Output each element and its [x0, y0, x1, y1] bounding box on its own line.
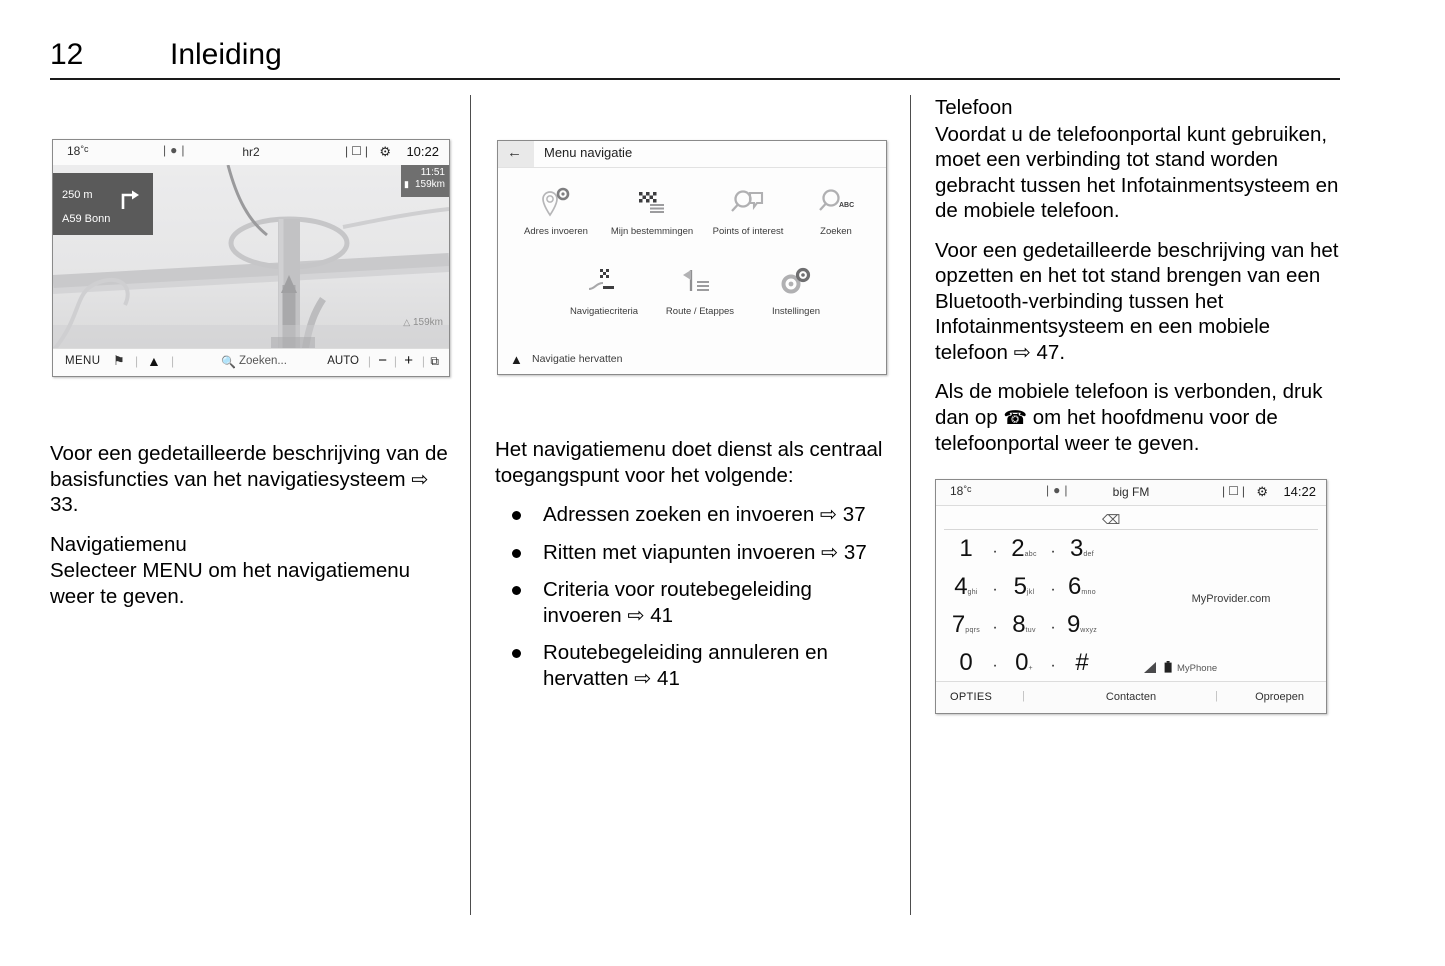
- key-separator: ·: [990, 619, 1000, 637]
- separator: |: [368, 354, 371, 368]
- phone-handset-icon: ☎: [1003, 408, 1027, 429]
- search-label[interactable]: Zoeken...: [239, 355, 287, 367]
- key-5[interactable]: 5jkl: [1002, 575, 1046, 599]
- key-separator: ·: [1048, 657, 1058, 675]
- list-item-text: Criteria voor routebegeleiding invoeren …: [543, 578, 812, 627]
- list-item-text: Adressen zoeken en invoeren ⇨ 37: [543, 503, 866, 526]
- key-0[interactable]: 0+: [1002, 651, 1046, 675]
- magnifier-speech-icon: [700, 181, 796, 223]
- list-item: Criteria voor routebegeleiding invoeren …: [495, 577, 895, 628]
- menu-title: Menu navigatie: [544, 145, 632, 160]
- page-title: Inleiding: [170, 38, 282, 72]
- pin-gear-icon: [508, 181, 604, 223]
- magnifier-abc-icon: ABC: [788, 181, 884, 223]
- message-icon: ▮: [404, 179, 409, 190]
- phone-bottom-bar: OPTIES | Contacten | Oproepen: [936, 681, 1326, 713]
- menu-tile-adres-invoeren[interactable]: Adres invoeren: [508, 181, 604, 237]
- manual-page: 12 Inleiding 18°c |●| hr2 |☐| ⚙ 10:22: [0, 0, 1445, 966]
- separator: |: [171, 354, 174, 368]
- tile-label: Points of interest: [700, 226, 796, 237]
- turn-instruction-card: 250 m A59 Bonn: [53, 173, 153, 235]
- key-separator: ·: [990, 657, 1000, 675]
- separator: |: [135, 354, 138, 368]
- key-7[interactable]: 7pqrs: [944, 613, 988, 637]
- key-separator: ·: [1048, 581, 1058, 599]
- key-separator: ·: [990, 581, 1000, 599]
- middle-paragraph-1: Het navigatiemenu doet dienst als centra…: [495, 437, 895, 488]
- key-separator: ·: [990, 543, 1000, 561]
- search-icon[interactable]: 🔍: [221, 355, 236, 369]
- bullet-dot: [512, 549, 521, 558]
- column-divider-2: [910, 95, 911, 915]
- list-item: Ritten met viapunten invoeren ⇨ 37: [495, 540, 895, 566]
- auto-zoom-button[interactable]: AUTO: [327, 355, 359, 367]
- menu-tile-instellingen[interactable]: Instellingen: [748, 261, 844, 317]
- phone-keypad-screenshot: 18°c |●| big FM |☐| ⚙ 14:22 ⌫ 1 · 2abc: [935, 479, 1327, 714]
- menu-tile-grid: Adres invoeren Mijn bestemmingen Points …: [498, 167, 886, 344]
- key-4[interactable]: 4ghi: [944, 575, 988, 599]
- phone-connection-status: MyPhone: [1132, 661, 1312, 675]
- right-paragraph-3: Als de mobiele telefoon is verbonden, dr…: [935, 379, 1340, 457]
- page-header: 12 Inleiding: [50, 38, 1340, 78]
- eta-panel: 11:51 ▮ 159km: [401, 165, 449, 197]
- menu-tile-route-etappes[interactable]: Route / Etappes: [652, 261, 748, 317]
- menu-tile-navigatiecriteria[interactable]: Navigatiecriteria: [556, 261, 652, 317]
- menu-tile-points-of-interest[interactable]: Points of interest: [700, 181, 796, 237]
- map-status-bar: 18°c |●| hr2 |☐| ⚙ 10:22: [53, 140, 449, 166]
- key-1[interactable]: 1: [944, 537, 988, 561]
- list-item: Routebegeleiding annuleren en hervatten …: [495, 640, 895, 691]
- key-9[interactable]: 9wxyz: [1060, 613, 1104, 637]
- backspace-icon[interactable]: ⌫: [1102, 512, 1120, 528]
- key-separator: ·: [1048, 543, 1058, 561]
- remaining-distance-secondary: △ 159km: [403, 317, 443, 328]
- checkered-flag-list-icon: [604, 181, 700, 223]
- list-item-text: Ritten met viapunten invoeren ⇨ 37: [543, 541, 867, 564]
- key-hash[interactable]: #: [1060, 651, 1104, 675]
- left-heading-navigatiemenu: Navigatiemenu: [50, 532, 450, 558]
- number-input-underline: [944, 529, 1318, 530]
- key-8[interactable]: 8tuv: [1002, 613, 1046, 637]
- menu-tile-zoeken[interactable]: ABC Zoeken: [788, 181, 884, 237]
- right-paragraph-2: Voor een gedetailleerde beschrijving van…: [935, 238, 1340, 366]
- key-3[interactable]: 3def: [1060, 537, 1104, 561]
- flag-list-icon: [652, 261, 748, 303]
- tile-label: Route / Etappes: [652, 306, 748, 317]
- gear-icon[interactable]: ⚙: [379, 144, 391, 160]
- key-separator: ·: [1048, 619, 1058, 637]
- column-middle: ← Menu navigatie Adres invoeren Mijn bes…: [495, 95, 895, 703]
- menu-footer[interactable]: ▲ Navigatie hervatten: [498, 344, 886, 374]
- battery-icon: [1164, 661, 1172, 676]
- expand-icon[interactable]: ⧉: [430, 354, 439, 369]
- flag-icon[interactable]: ⚑: [113, 353, 125, 369]
- tile-label: Instellingen: [748, 306, 844, 317]
- turn-distance: 250 m: [62, 189, 93, 201]
- calls-button[interactable]: Oproepen: [1255, 691, 1304, 703]
- bullet-dot: [512, 586, 521, 595]
- remaining-distance: 159km: [415, 179, 445, 190]
- tile-label: Zoeken: [788, 226, 884, 237]
- keypad-row: 7pqrs · 8tuv · 9wxyz: [944, 613, 1124, 651]
- menu-tile-mijn-bestemmingen[interactable]: Mijn bestemmingen: [604, 181, 700, 237]
- menu-title-bar: ← Menu navigatie: [498, 141, 886, 168]
- checkered-route-icon: [556, 261, 652, 303]
- key-6[interactable]: 6mno: [1060, 575, 1104, 599]
- provider-label: MyProvider.com: [1146, 593, 1316, 605]
- phone-body: ⌫ 1 · 2abc · 3def 4ghi · 5: [936, 505, 1326, 681]
- phone-status-bar: 18°c |●| big FM |☐| ⚙ 14:22: [936, 480, 1326, 506]
- right-heading-telefoon: Telefoon: [935, 95, 1340, 121]
- arrival-time: 11:51: [421, 167, 445, 178]
- phone-keypad: 1 · 2abc · 3def 4ghi · 5jkl · 6mno: [944, 537, 1124, 689]
- message-icon[interactable]: |☐|: [1222, 484, 1248, 498]
- keypad-row: 4ghi · 5jkl · 6mno: [944, 575, 1124, 613]
- back-arrow-icon: ←: [507, 144, 522, 161]
- device-name-label: MyPhone: [1177, 663, 1217, 674]
- signal-bars-icon: [1144, 662, 1157, 676]
- navigation-map-screenshot: 18°c |●| hr2 |☐| ⚙ 10:22: [52, 139, 450, 377]
- turn-right-arrow-icon: [119, 189, 141, 216]
- menu-button[interactable]: MENU: [65, 355, 100, 367]
- gears-icon: [748, 261, 844, 303]
- clock-readout: 10:22: [406, 144, 439, 159]
- tile-label: Mijn bestemmingen: [604, 226, 700, 237]
- list-item: Adressen zoeken en invoeren ⇨ 37: [495, 502, 895, 528]
- right-paragraph-1: Voordat u de telefoonportal kunt gebruik…: [935, 122, 1340, 224]
- keypad-row: 1 · 2abc · 3def: [944, 537, 1124, 575]
- key-star[interactable]: 0: [944, 651, 988, 675]
- message-icon[interactable]: |☐|: [345, 144, 371, 158]
- left-paragraph-1: Voor een gedetailleerde beschrijving van…: [50, 441, 450, 518]
- header-divider: [50, 78, 1340, 80]
- tile-label: Navigatiecriteria: [556, 306, 652, 317]
- middle-bullet-list: Adressen zoeken en invoeren ⇨ 37 Ritten …: [495, 502, 895, 691]
- zoom-in-button[interactable]: +: [404, 352, 413, 369]
- column-divider-1: [470, 95, 471, 915]
- key-2[interactable]: 2abc: [1002, 537, 1046, 561]
- clock-readout: 14:22: [1283, 484, 1316, 499]
- back-button[interactable]: ←: [498, 141, 534, 167]
- bullet-dot: [512, 649, 521, 658]
- map-bottom-bar: MENU ⚑ | ▲ | 🔍 Zoeken... AUTO | − | + | …: [53, 348, 449, 376]
- map-canvas[interactable]: 250 m A59 Bonn 11:51 ▮ 159km △ 159km: [53, 165, 449, 348]
- separator: |: [394, 354, 397, 368]
- phone-screenshot-wrapper: 18°c |●| big FM |☐| ⚙ 14:22 ⌫ 1 · 2abc: [935, 479, 1340, 714]
- north-arrow-icon[interactable]: ▲: [147, 353, 161, 369]
- column-right: Telefoon Voordat u de telefoonportal kun…: [935, 95, 1340, 714]
- left-paragraph-2: Selecteer MENU om het navigatiemenu weer…: [50, 558, 450, 609]
- navigation-triangle-icon: ▲: [510, 352, 523, 367]
- menu-keyword: MENU: [142, 559, 202, 582]
- separator: |: [422, 354, 425, 368]
- navigation-menu-screenshot: ← Menu navigatie Adres invoeren Mijn bes…: [497, 140, 887, 375]
- svg-text:ABC: ABC: [839, 202, 854, 209]
- resume-navigation-label: Navigatie hervatten: [532, 353, 622, 365]
- separator: |: [1215, 690, 1218, 702]
- list-item-text: Routebegeleiding annuleren en hervatten …: [543, 641, 828, 690]
- tile-label: Adres invoeren: [508, 226, 604, 237]
- turn-road-name: A59 Bonn: [62, 213, 110, 225]
- gear-icon[interactable]: ⚙: [1256, 484, 1268, 500]
- page-number: 12: [50, 38, 83, 72]
- zoom-out-button[interactable]: −: [378, 352, 387, 369]
- column-left: 18°c |●| hr2 |☐| ⚙ 10:22: [50, 95, 450, 623]
- bullet-dot: [512, 511, 521, 520]
